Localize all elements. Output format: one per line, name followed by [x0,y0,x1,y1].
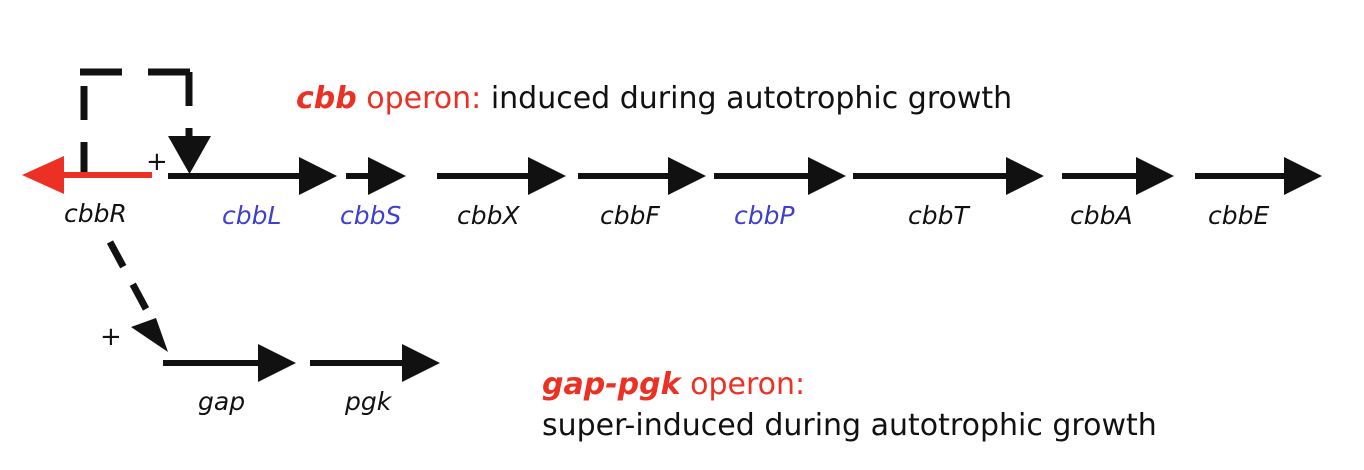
gene-arrow-gap [163,344,296,382]
gene-label-cbbL: cbbL [222,201,281,230]
gene-arrow-cbbF [578,157,706,195]
gene-label-cbbX: cbbX [457,201,520,230]
diagram-canvas: + cbbR cbbL cbbS cbbX cb [0,0,1364,470]
cbbF-arrow-head [668,157,706,195]
cbbX-arrow-head [528,157,566,195]
gene-label-cbbE: cbbE [1208,201,1269,230]
gappgk-operon-caption-line2: super-induced during autotrophic growth [542,408,1157,443]
gappgk-operon-caption-line1: gap-pgk operon: [542,367,805,402]
cbbL-arrow-head [299,157,337,195]
gene-arrow-cbbP [714,157,846,195]
gap-arrow-head [258,344,296,382]
cbb-operon-caption: cbb operon: induced during autotrophic g… [296,81,1012,116]
gene-arrow-cbbS [346,157,406,195]
cbbT-arrow-head [1006,157,1044,195]
gene-arrow-pgk [310,344,440,382]
gappgk-activation-plus: + [100,322,122,352]
gappgk-caption-operon-word: operon: [681,367,806,402]
gene-label-cbbA: cbbA [1070,201,1133,230]
operon-diagram: + cbbR cbbL cbbS cbbX cb [0,0,1364,470]
cbb-caption-operon-word: operon: [357,81,491,116]
gene-label-cbbS: cbbS [340,201,401,230]
gene-arrow-cbbX [437,157,566,195]
cbbR-arrow-head [22,156,64,194]
gene-label-cbbT: cbbT [908,201,970,230]
cbbS-arrow-head [368,157,406,195]
gene-label-pgk: pgk [344,387,393,416]
gene-arrow-cbbA [1062,157,1174,195]
pgk-arrow-head [402,344,440,382]
gene-label-cbbP: cbbP [734,201,795,230]
cbb-caption-description: induced during autotrophic growth [491,81,1012,116]
gene-label-gap: gap [198,387,245,416]
gene-arrow-cbbE [1195,157,1322,195]
gene-label-cbbR: cbbR [64,199,127,228]
gene-label-cbbF: cbbF [600,201,660,230]
gappgk-caption-operon-name: gap-pgk [542,367,683,402]
cbbE-arrow-head [1284,157,1322,195]
dashed-diagonal [110,242,152,320]
gappgk-activation-arrowhead [131,318,168,352]
cbbP-arrow-head [808,157,846,195]
cbbA-arrow-head [1136,157,1174,195]
gene-arrow-cbbT [853,157,1044,195]
activation-arrowhead-down [168,136,211,174]
cbb-caption-operon-name: cbb [296,81,357,116]
